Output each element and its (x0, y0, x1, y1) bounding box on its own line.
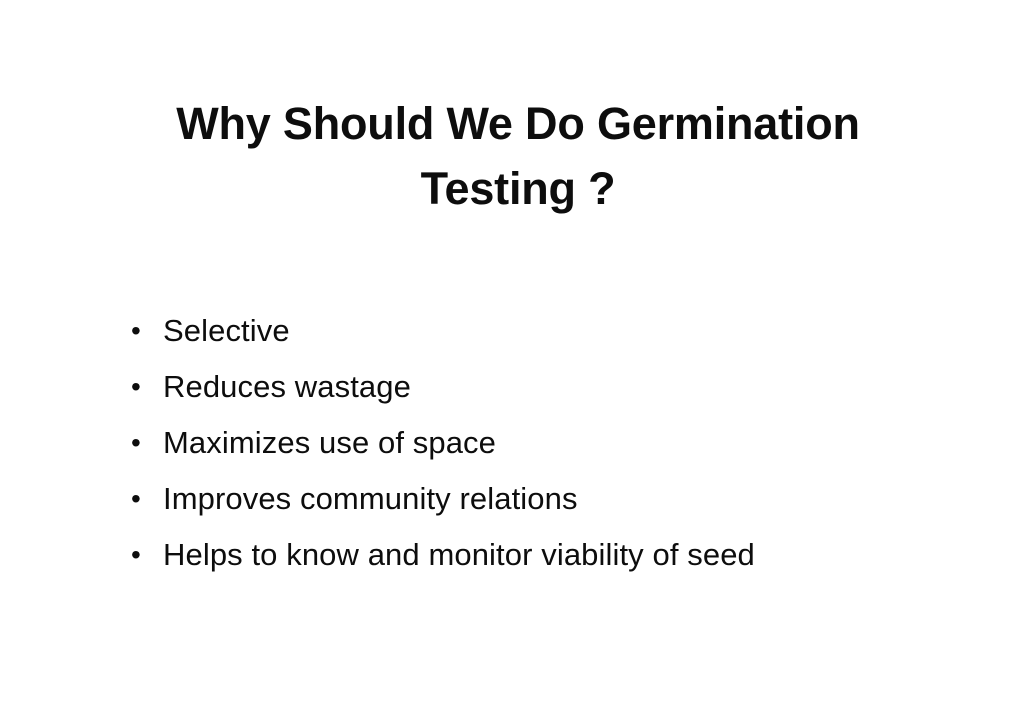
list-item: • Reduces wastage (128, 359, 800, 415)
list-item-label: Reduces wastage (163, 359, 800, 415)
slide-title: Why Should We Do Germination Testing ? (112, 92, 924, 222)
list-item-label: Selective (163, 303, 800, 359)
list-item-label: Maximizes use of space (163, 415, 800, 471)
bullet-icon: • (131, 471, 151, 527)
list-item: • Selective (128, 303, 800, 359)
list-item-label: Improves community relations (163, 471, 800, 527)
bullet-icon: • (131, 415, 151, 471)
bullet-icon: • (131, 359, 151, 415)
bullet-icon: • (131, 303, 151, 359)
bullet-icon: • (131, 527, 151, 583)
slide-body: • Selective • Reduces wastage • Maximize… (128, 303, 800, 583)
list-item-label: Helps to know and monitor viability of s… (163, 527, 800, 583)
bullet-list: • Selective • Reduces wastage • Maximize… (128, 303, 800, 583)
list-item: • Improves community relations (128, 471, 800, 527)
list-item: • Maximizes use of space (128, 415, 800, 471)
slide-canvas: Why Should We Do Germination Testing ? •… (0, 0, 1024, 724)
list-item: • Helps to know and monitor viability of… (128, 527, 800, 583)
